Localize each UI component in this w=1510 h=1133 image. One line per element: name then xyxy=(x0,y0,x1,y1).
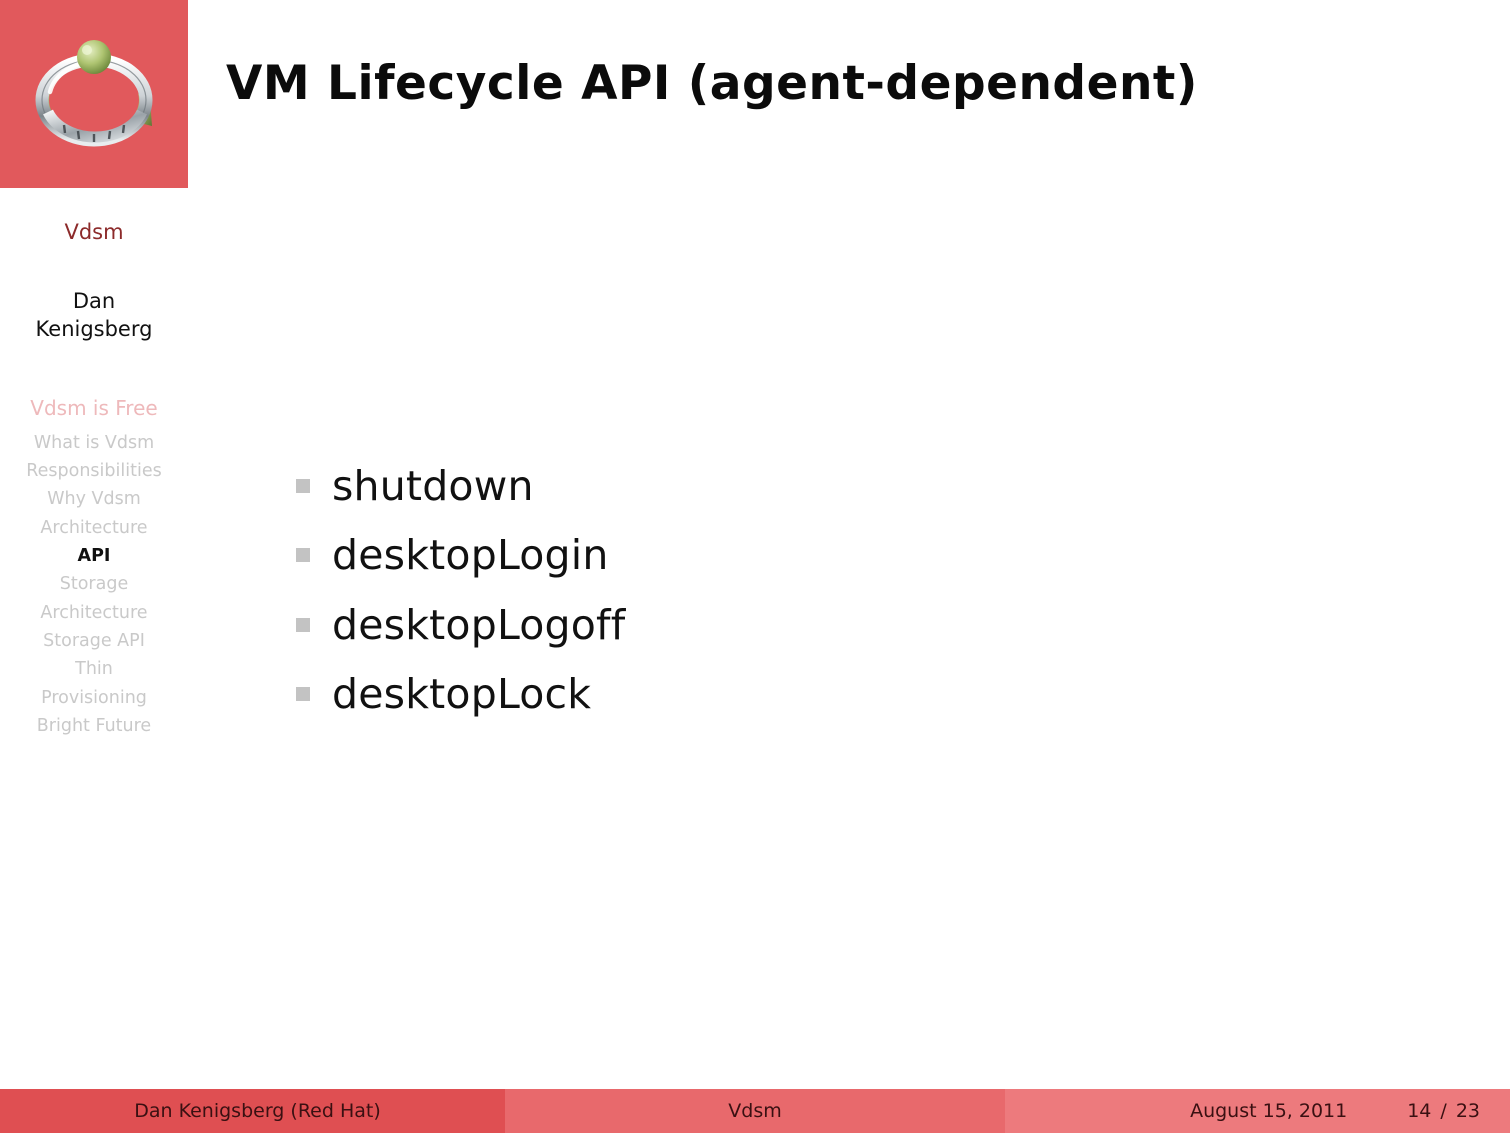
slide-footer: Dan Kenigsberg (Red Hat) Vdsm August 15,… xyxy=(0,1089,1510,1133)
sidebar-toc-list: What is Vdsm Responsibilities Why Vdsm A… xyxy=(0,429,188,741)
sidebar-author-line-1: Dan xyxy=(0,287,188,315)
slide-title: VM Lifecycle API (agent-dependent) xyxy=(226,58,1426,110)
sidebar: Vdsm Dan Kenigsberg Vdsm is Free What is… xyxy=(0,188,188,1088)
list-item: desktopLogoff xyxy=(296,601,1396,649)
sidebar-item-storage-architecture[interactable]: Storage Architecture xyxy=(0,570,188,627)
square-bullet-icon xyxy=(296,618,310,632)
list-item: desktopLock xyxy=(296,670,1396,718)
footer-date: August 15, 2011 xyxy=(1190,1100,1347,1122)
footer-page-total: 23 xyxy=(1456,1100,1480,1122)
footer-page-indicator: 14 / 23 xyxy=(1407,1100,1480,1122)
sidebar-brand: Vdsm xyxy=(0,220,188,244)
bullet-label-desktoplogin: desktopLogin xyxy=(332,531,609,579)
bullet-label-shutdown: shutdown xyxy=(332,462,534,510)
sidebar-item-architecture[interactable]: Architecture xyxy=(0,514,188,542)
sidebar-item-thin-provisioning[interactable]: Thin Provisioning xyxy=(0,655,188,712)
sidebar-item-storage-api[interactable]: Storage API xyxy=(0,627,188,655)
footer-subject: Vdsm xyxy=(505,1089,1005,1133)
sidebar-item-responsibilities[interactable]: Responsibilities xyxy=(0,457,188,485)
footer-page-current: 14 xyxy=(1407,1100,1431,1122)
square-bullet-icon xyxy=(296,687,310,701)
square-bullet-icon xyxy=(296,548,310,562)
list-item: desktopLogin xyxy=(296,531,1396,579)
header-logo-block xyxy=(0,0,188,188)
bullet-label-desktoplogoff: desktopLogoff xyxy=(332,601,625,649)
sidebar-item-why-vdsm[interactable]: Why Vdsm xyxy=(0,485,188,513)
logo-sphere xyxy=(77,40,111,74)
bullet-label-desktoplock: desktopLock xyxy=(332,670,591,718)
slide-content-bullet-list: shutdown desktopLogin desktopLogoff desk… xyxy=(296,462,1396,740)
sidebar-toc: Vdsm is Free What is Vdsm Responsibiliti… xyxy=(0,396,188,741)
list-item: shutdown xyxy=(296,462,1396,510)
sidebar-item-api[interactable]: API xyxy=(0,542,188,570)
sidebar-item-bright-future[interactable]: Bright Future xyxy=(0,712,188,740)
footer-right: August 15, 2011 14 / 23 xyxy=(1005,1089,1510,1133)
sidebar-section-vdsm-is-free[interactable]: Vdsm is Free xyxy=(0,396,188,420)
sidebar-item-what-is-vdsm[interactable]: What is Vdsm xyxy=(0,429,188,457)
square-bullet-icon xyxy=(296,479,310,493)
footer-page-separator: / xyxy=(1440,1100,1446,1122)
sidebar-author-line-2: Kenigsberg xyxy=(0,315,188,343)
vdsm-ring-logo-icon xyxy=(24,30,164,162)
footer-author: Dan Kenigsberg (Red Hat) xyxy=(0,1089,505,1133)
sidebar-author: Dan Kenigsberg xyxy=(0,287,188,344)
